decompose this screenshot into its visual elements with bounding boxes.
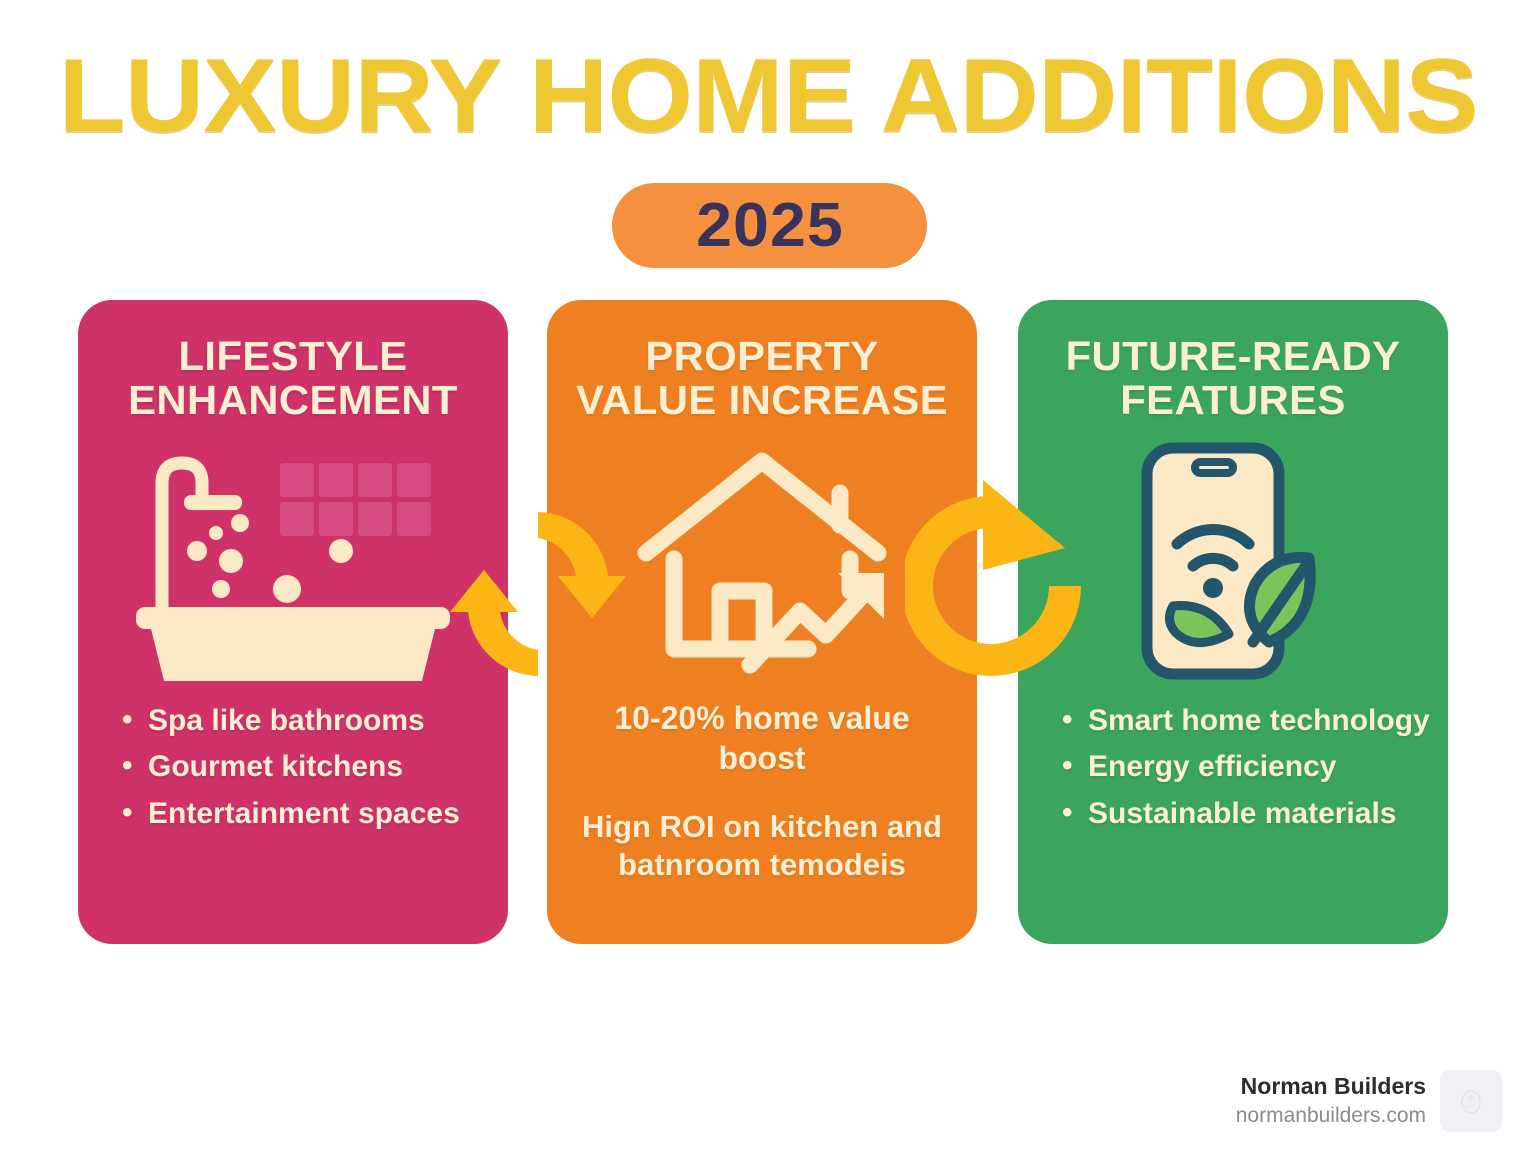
card-title-property: PROPERTY VALUE INCREASE	[561, 334, 963, 423]
card-title-line-2: VALUE INCREASE	[561, 378, 963, 422]
list-item: Energy efficiency	[1062, 744, 1430, 791]
connector-arrow-2	[905, 478, 1085, 686]
card-title-line-1: LIFESTYLE	[92, 334, 494, 378]
bullet-list-lifestyle: Spa like bathrooms Gourmet kitchens Ente…	[96, 698, 490, 838]
cycle-arrow-icon	[448, 490, 628, 698]
logo-placeholder-icon	[1458, 1086, 1484, 1116]
logo-placeholder-box	[1440, 1070, 1502, 1132]
card-title-line-2: ENHANCEMENT	[92, 378, 494, 422]
list-item: Entertainment spaces	[122, 791, 490, 838]
card-body-property: 10-20% home value boost Hign ROI on kitc…	[565, 694, 959, 920]
bathtub-shower-icon	[128, 441, 458, 681]
infographic-canvas: LUXURY HOME ADDITIONS 2025 LIFESTYLE ENH…	[0, 0, 1536, 1154]
smartphone-wifi-leaf-icon	[1103, 436, 1363, 686]
brand-url: normanbuilders.com	[1236, 1102, 1426, 1130]
list-item: Smart home technology	[1062, 698, 1430, 745]
card-icon-wrap-future	[1036, 429, 1430, 694]
card-title-line-1: FUTURE-READY	[1032, 334, 1434, 378]
stat-secondary: Hign ROI on kitchen and batnroom temodei…	[565, 808, 959, 886]
brand-name: Norman Builders	[1236, 1071, 1426, 1102]
connector-arrow-1	[448, 490, 628, 698]
footer-branding: Norman Builders normanbuilders.com	[1236, 1070, 1502, 1132]
card-body-future: Smart home technology Energy efficiency …	[1036, 694, 1430, 920]
list-item: Gourmet kitchens	[122, 744, 490, 791]
year-badge-label: 2025	[696, 190, 844, 261]
refresh-arrow-icon	[905, 478, 1085, 686]
card-lifestyle-enhancement: LIFESTYLE ENHANCEMENT	[78, 300, 508, 944]
card-title-future: FUTURE-READY FEATURES	[1032, 334, 1434, 423]
card-title-lifestyle: LIFESTYLE ENHANCEMENT	[92, 334, 494, 423]
year-badge: 2025	[612, 183, 927, 268]
list-item: Spa like bathrooms	[122, 698, 490, 745]
card-title-line-1: PROPERTY	[561, 334, 963, 378]
card-title-line-2: FEATURES	[1032, 378, 1434, 422]
house-growth-arrow-icon	[612, 441, 912, 681]
stat-primary: 10-20% home value boost	[565, 698, 959, 778]
footer-text-block: Norman Builders normanbuilders.com	[1236, 1071, 1426, 1130]
card-icon-wrap-lifestyle	[96, 429, 490, 694]
page-title: LUXURY HOME ADDITIONS	[0, 44, 1536, 148]
bullet-list-future: Smart home technology Energy efficiency …	[1036, 698, 1430, 838]
card-body-lifestyle: Spa like bathrooms Gourmet kitchens Ente…	[96, 694, 490, 920]
list-item: Sustainable materials	[1062, 791, 1430, 838]
